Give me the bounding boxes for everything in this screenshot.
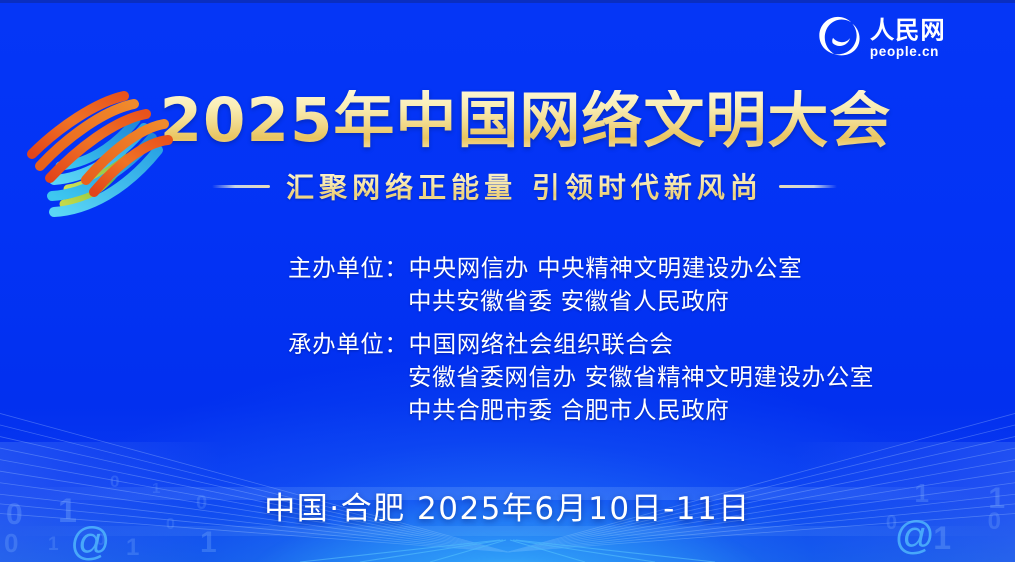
- binary-digit: 0: [96, 530, 105, 550]
- organizer-line: 安徽省委网信办 安徽省精神文明建设办公室: [0, 361, 1015, 394]
- co-host-group: 承办单位：中国网络社会组织联合会 安徽省委网信办 安徽省精神文明建设办公室 中共…: [0, 328, 1015, 428]
- binary-digit: 1: [126, 534, 139, 562]
- organizer-line: 中共合肥市委 合肥市人民政府: [0, 394, 1015, 427]
- decor-rule-right: [779, 185, 837, 188]
- binary-digit: 0: [4, 528, 18, 559]
- people-daily-globe-icon: [815, 14, 861, 60]
- venue-date-label: 中国·合肥 2025年6月10日-11日: [264, 483, 750, 528]
- host-group: 主办单位：中央网信办 中央精神文明建设办公室 中共安徽省委 安徽省人民政府: [0, 252, 1015, 319]
- conference-emblem-icon: [18, 84, 178, 224]
- svg-text:人民网: 人民网: [870, 16, 946, 44]
- organizer-line: 中共安徽省委 安徽省人民政府: [0, 285, 1015, 318]
- brand-en-label: people.cn: [870, 45, 939, 59]
- renminwang-wordmark-icon: 人民网: [870, 16, 993, 44]
- conference-poster: 0 1 0 1 0 1 0 1 0 1 0 1 1 0 0 1 @ @ 人民网 …: [0, 0, 1015, 562]
- binary-digit: 1: [200, 526, 217, 560]
- brand-text: 人民网 people.cn: [870, 16, 993, 59]
- page-subtitle: 汇聚网络正能量 引领时代新风尚: [286, 166, 763, 206]
- people-cn-brand[interactable]: 人民网 people.cn: [815, 14, 993, 60]
- decor-rule-left: [212, 185, 270, 188]
- organizers-block: 主办单位：中央网信办 中央精神文明建设办公室 中共安徽省委 安徽省人民政府 承办…: [0, 252, 1015, 437]
- footer-block: 中国·合肥 2025年6月10日-11日: [0, 483, 1015, 528]
- binary-digit: 1: [48, 534, 59, 556]
- organizer-line: 主办单位：中央网信办 中央精神文明建设办公室: [0, 252, 1015, 285]
- organizer-line: 承办单位：中国网络社会组织联合会: [0, 328, 1015, 361]
